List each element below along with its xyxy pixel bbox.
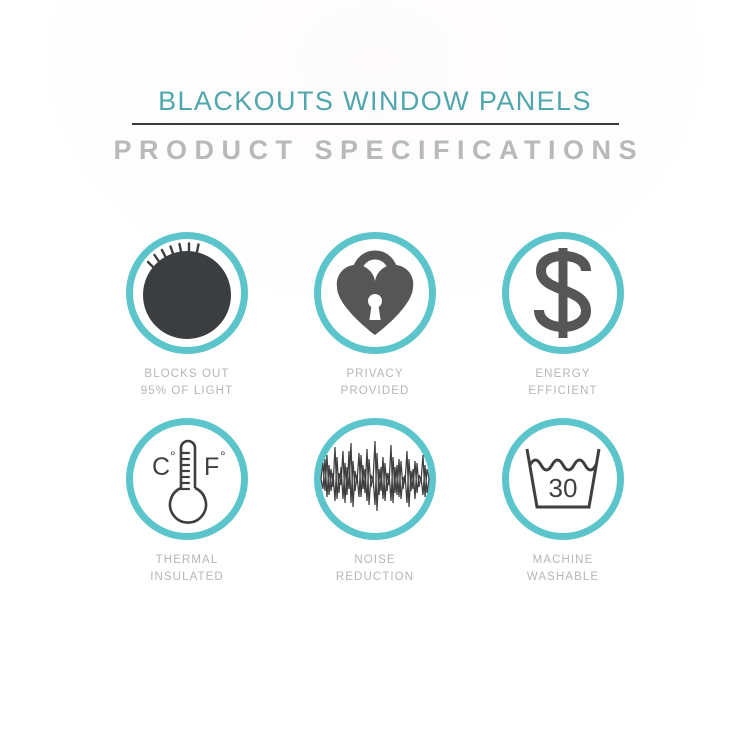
spec-label-line2: INSULATED xyxy=(150,569,224,586)
spec-label-line1: PRIVACY xyxy=(346,368,403,380)
spec-label-line2: PROVIDED xyxy=(341,383,410,400)
page-subtitle: PRODUCT SPECIFICATIONS xyxy=(0,134,750,166)
icon-ring xyxy=(314,418,436,540)
spec-label: BLOCKS OUT 95% OF LIGHT xyxy=(141,366,233,400)
thermometer-celsius-label: C xyxy=(152,453,170,481)
spec-item-thermal: C ° F ° THERMAL INSULATED xyxy=(93,418,281,586)
blocked-sun-icon xyxy=(135,241,239,345)
spec-label: MACHINE WASHABLE xyxy=(527,552,599,586)
spec-label-line1: MACHINE xyxy=(533,554,594,566)
wash-temperature-label: 30 xyxy=(549,473,578,503)
spec-label-line2: 95% OF LIGHT xyxy=(141,383,233,400)
spec-label-line1: NOISE xyxy=(354,554,395,566)
thermometer-fahrenheit-label: F xyxy=(204,453,219,481)
icon-ring: C ° F ° xyxy=(126,418,248,540)
infographic-page: BLACKOUTS WINDOW PANELS PRODUCT SPECIFIC… xyxy=(0,0,750,750)
spec-item-washable: 30 MACHINE WASHABLE xyxy=(469,418,657,586)
spec-label-line2: WASHABLE xyxy=(527,569,599,586)
thermometer-icon: C ° F ° xyxy=(138,436,236,522)
spec-label-line2: REDUCTION xyxy=(336,569,414,586)
header: BLACKOUTS WINDOW PANELS PRODUCT SPECIFIC… xyxy=(0,84,750,166)
spec-grid: BLOCKS OUT 95% OF LIGHT xyxy=(0,232,750,586)
page-title: BLACKOUTS WINDOW PANELS xyxy=(0,84,750,118)
spec-row: BLOCKS OUT 95% OF LIGHT xyxy=(0,232,750,400)
sound-wave-icon xyxy=(320,433,430,525)
icon-ring xyxy=(126,232,248,354)
thermometer-celsius-degree: ° xyxy=(170,448,176,464)
thermometer-fahrenheit-degree: ° xyxy=(220,448,226,464)
icon-ring xyxy=(314,232,436,354)
dollar-sign-icon xyxy=(526,248,600,338)
spec-label: NOISE REDUCTION xyxy=(336,552,414,586)
spec-label-line1: BLOCKS OUT xyxy=(144,368,229,380)
wash-tub-icon: 30 xyxy=(523,443,603,515)
spec-label-line1: ENERGY xyxy=(535,368,590,380)
spec-item-noise: NOISE REDUCTION xyxy=(281,418,469,586)
spec-label: PRIVACY PROVIDED xyxy=(341,366,410,400)
spec-label-line1: THERMAL xyxy=(156,554,219,566)
spec-item-blocks-light: BLOCKS OUT 95% OF LIGHT xyxy=(93,232,281,400)
spec-label: ENERGY EFFICIENT xyxy=(528,366,597,400)
spec-label: THERMAL INSULATED xyxy=(150,552,224,586)
spec-label-line2: EFFICIENT xyxy=(528,383,597,400)
icon-ring: 30 xyxy=(502,418,624,540)
title-divider xyxy=(132,123,619,125)
spec-row: C ° F ° THERMAL INSULATED xyxy=(0,418,750,586)
heart-padlock-icon xyxy=(335,249,415,337)
spec-item-privacy: PRIVACY PROVIDED xyxy=(281,232,469,400)
icon-ring xyxy=(502,232,624,354)
spec-item-energy: ENERGY EFFICIENT xyxy=(469,232,657,400)
